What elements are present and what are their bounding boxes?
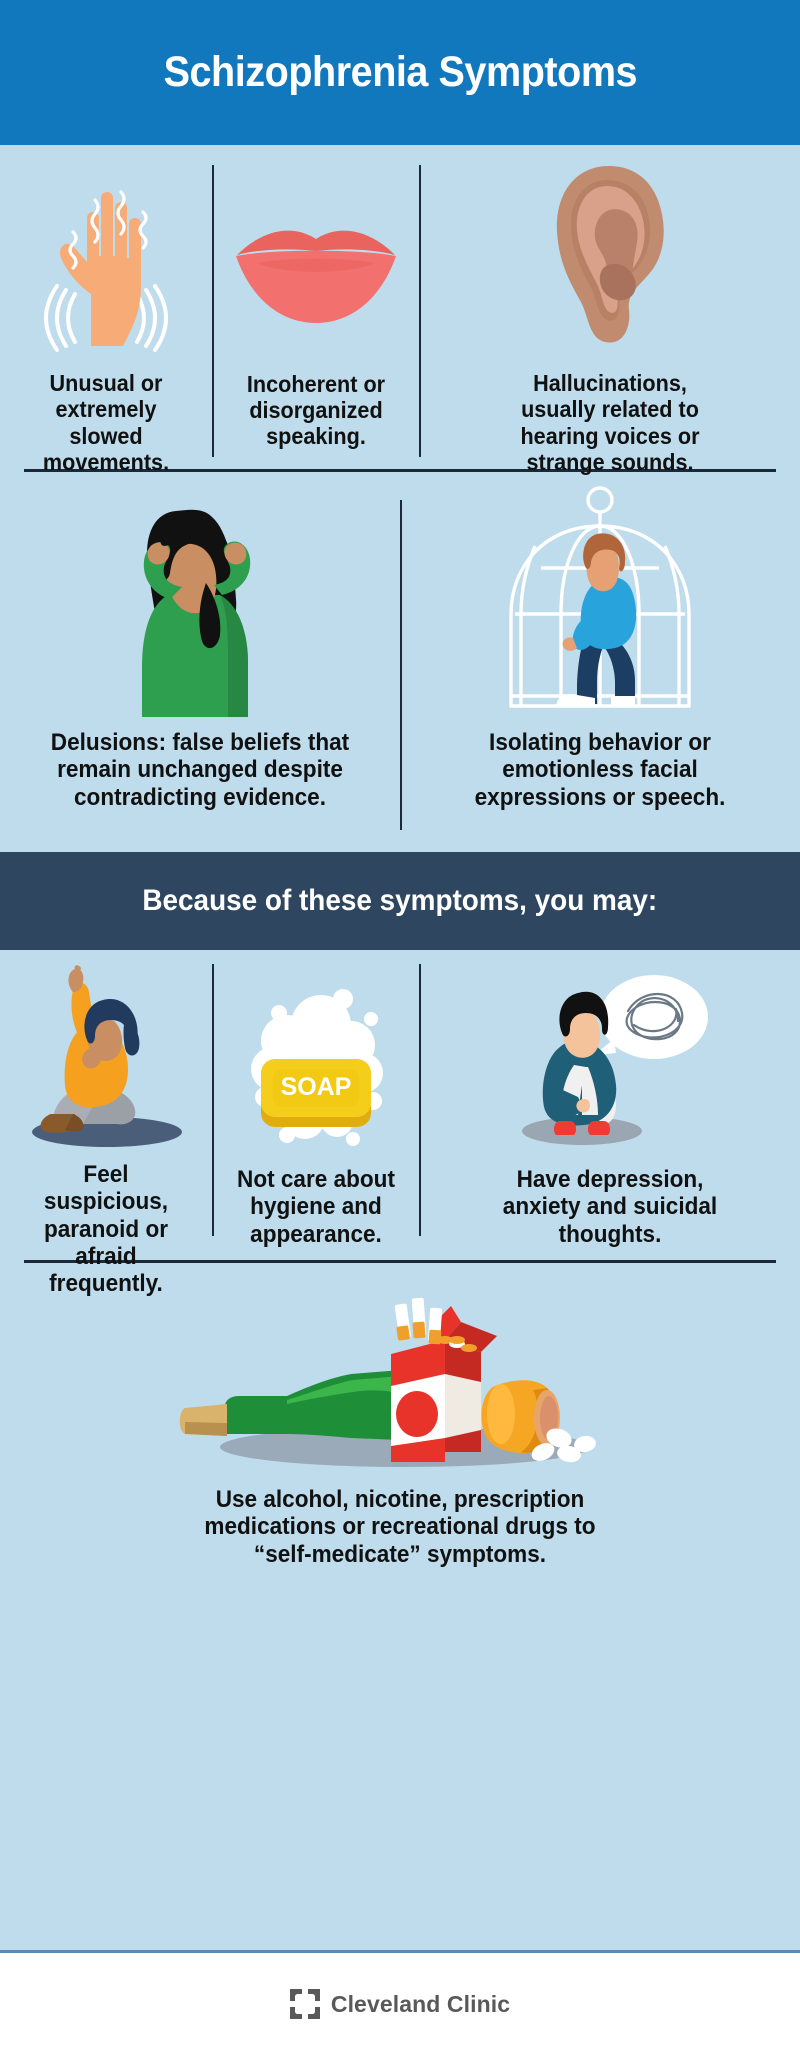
symptom-card-movements: Unusual or extremely slowed movements. bbox=[0, 145, 212, 475]
symptom-caption: Hallucinations, usually related to heari… bbox=[487, 370, 731, 475]
symptom-card-speaking: Incoherent or disorganized speaking. bbox=[212, 145, 419, 475]
cleveland-clinic-logo bbox=[290, 1989, 320, 2019]
symptom-row-1: Unusual or extremely slowed movements. I… bbox=[0, 145, 800, 475]
section-band: Because of these symptoms, you may: bbox=[0, 852, 800, 950]
symptom-caption: Use alcohol, nicotine, prescription medi… bbox=[170, 1486, 631, 1568]
symptom-card-paranoia: Feel suspicious, paranoid or afraid freq… bbox=[0, 964, 212, 1260]
ear-icon bbox=[419, 145, 800, 354]
symptom-card-depression: Have depression, anxiety and suicidal th… bbox=[419, 964, 800, 1260]
symptom-card-self-medicate: Use alcohol, nicotine, prescription medi… bbox=[0, 1277, 800, 1568]
symptom-card-hygiene: SOAP Not care about hygiene and appearan… bbox=[212, 964, 419, 1260]
symptom-caption: Not care about hygiene and appearance. bbox=[230, 1166, 401, 1248]
person-in-cage-icon bbox=[400, 472, 800, 717]
page-title: Schizophrenia Symptoms bbox=[163, 48, 636, 97]
infographic-root: Schizophrenia Symptoms bbox=[0, 0, 800, 2055]
symptom-caption: Isolating behavior or emotionless facial… bbox=[459, 729, 741, 811]
sad-person-thought-bubble-icon bbox=[419, 964, 800, 1154]
symptom-caption: Delusions: false beliefs that remain unc… bbox=[45, 729, 355, 811]
symptom-card-isolation: Isolating behavior or emotionless facial… bbox=[400, 472, 800, 852]
symptom-caption: Incoherent or disorganized speaking. bbox=[231, 371, 400, 450]
symptom-caption: Unusual or extremely slowed movements. bbox=[25, 370, 187, 475]
soap-label: SOAP bbox=[280, 1073, 351, 1101]
symptom-row-2: Delusions: false beliefs that remain unc… bbox=[0, 472, 800, 852]
header-banner: Schizophrenia Symptoms bbox=[0, 0, 800, 145]
fearful-person-icon bbox=[0, 964, 212, 1149]
lips-icon bbox=[212, 145, 419, 355]
shaking-hand-icon bbox=[0, 145, 212, 354]
content-area: Unusual or extremely slowed movements. I… bbox=[0, 145, 800, 1950]
symptom-row-4: Use alcohol, nicotine, prescription medi… bbox=[0, 1263, 800, 1568]
symptom-caption: Have depression, anxiety and suicidal th… bbox=[492, 1166, 727, 1248]
soap-bar-icon: SOAP bbox=[212, 964, 419, 1154]
band-label: Because of these symptoms, you may: bbox=[143, 884, 658, 918]
footer-brand: Cleveland Clinic bbox=[331, 1991, 510, 2018]
symptom-card-hallucinations: Hallucinations, usually related to heari… bbox=[419, 145, 800, 475]
symptom-card-delusions: Delusions: false beliefs that remain unc… bbox=[0, 472, 400, 852]
distressed-woman-icon bbox=[0, 472, 400, 717]
footer: Cleveland Clinic bbox=[0, 1950, 800, 2055]
symptom-row-3: Feel suspicious, paranoid or afraid freq… bbox=[0, 950, 800, 1260]
alcohol-cigarettes-pills-icon bbox=[0, 1277, 800, 1472]
